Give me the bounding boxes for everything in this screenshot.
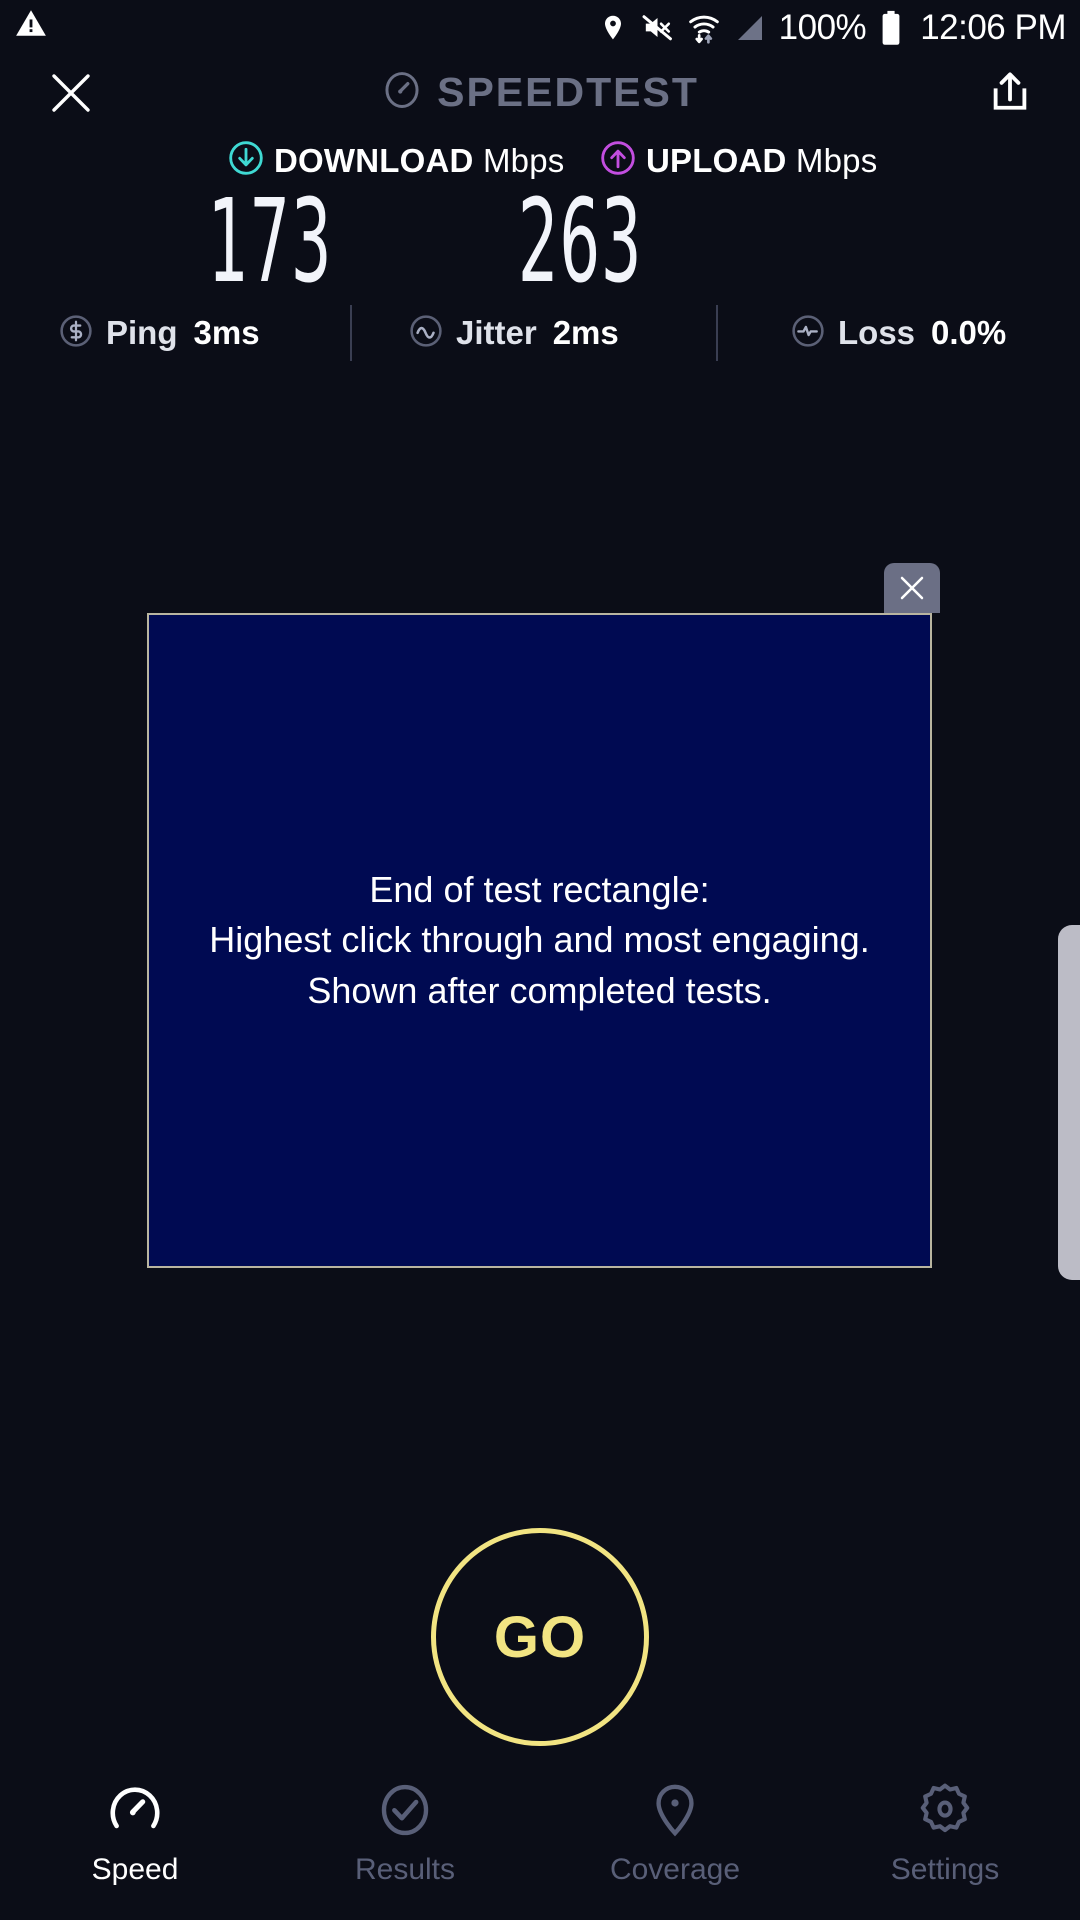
ad-close-button[interactable] <box>884 563 940 613</box>
nav-item-speed[interactable]: Speed <box>0 1779 270 1887</box>
volume-muted-icon <box>641 11 674 44</box>
location-pin-icon <box>598 13 628 43</box>
share-button[interactable] <box>978 61 1042 125</box>
metric-divider <box>716 305 718 361</box>
jitter-value: 2ms <box>553 314 619 352</box>
cellular-signal-icon <box>734 12 766 44</box>
app-header: SPEEDTEST <box>0 55 1080 130</box>
speedometer-icon <box>381 69 423 116</box>
nav-item-coverage[interactable]: Coverage <box>540 1779 810 1887</box>
network-quality-row: Ping 3ms Jitter 2ms <box>0 305 1080 375</box>
jitter-metric: Jitter 2ms <box>408 305 619 361</box>
speed-values-row: 173 263 <box>0 192 1080 297</box>
download-label: DOWNLOAD Mbps <box>274 142 564 180</box>
loss-icon <box>790 313 826 354</box>
battery-percentage: 100% <box>779 8 867 48</box>
loss-metric: Loss 0.0% <box>790 305 1006 361</box>
check-circle-icon <box>376 1779 434 1841</box>
test-results-panel: DOWNLOAD Mbps UPLOAD Mbps 173 263 <box>0 140 1080 375</box>
loss-value: 0.0% <box>931 314 1006 352</box>
ping-value: 3ms <box>194 314 260 352</box>
jitter-label: Jitter <box>456 314 537 352</box>
nav-label-speed: Speed <box>92 1853 179 1887</box>
ad-line-1: End of test rectangle: <box>209 865 869 915</box>
metric-divider <box>350 305 352 361</box>
jitter-icon <box>408 313 444 354</box>
speedtest-logo: SPEEDTEST <box>0 55 1080 130</box>
speedometer-icon <box>106 1779 164 1841</box>
nav-label-coverage: Coverage <box>610 1853 740 1887</box>
nav-label-results: Results <box>355 1853 455 1887</box>
ping-metric: Ping 3ms <box>58 305 260 361</box>
upload-value: 263 <box>506 185 655 300</box>
go-button-label: GO <box>494 1604 586 1671</box>
upload-label: UPLOAD Mbps <box>646 142 877 180</box>
speedtest-app-screen: 100% 12:06 PM SP <box>0 0 1080 1920</box>
status-bar-right-icons: 100% 12:06 PM <box>598 0 1066 55</box>
bottom-navigation-bar: Speed Results Coverage <box>0 1765 1080 1920</box>
edge-panel-handle[interactable] <box>1058 925 1080 1280</box>
ping-icon <box>58 313 94 354</box>
advertisement-banner[interactable]: End of test rectangle: Highest click thr… <box>147 613 932 1268</box>
ad-line-2: Highest click through and most engaging. <box>209 915 869 965</box>
status-bar: 100% 12:06 PM <box>0 0 1080 55</box>
map-pin-icon <box>646 1779 704 1841</box>
battery-full-icon <box>879 10 903 46</box>
clock-time: 12:06 PM <box>920 8 1066 48</box>
status-bar-left-icons <box>14 6 48 40</box>
warning-icon <box>14 6 48 40</box>
nav-item-results[interactable]: Results <box>270 1779 540 1887</box>
nav-item-settings[interactable]: Settings <box>810 1779 1080 1887</box>
app-title: SPEEDTEST <box>437 69 699 116</box>
gear-icon <box>916 1779 974 1841</box>
nav-label-settings: Settings <box>891 1853 999 1887</box>
ad-text: End of test rectangle: Highest click thr… <box>209 865 869 1016</box>
ad-line-3: Shown after completed tests. <box>209 966 869 1016</box>
go-button[interactable]: GO <box>431 1528 649 1746</box>
ping-label: Ping <box>106 314 178 352</box>
wifi-transfer-icon <box>687 11 721 45</box>
download-value: 173 <box>196 185 345 300</box>
loss-label: Loss <box>838 314 915 352</box>
